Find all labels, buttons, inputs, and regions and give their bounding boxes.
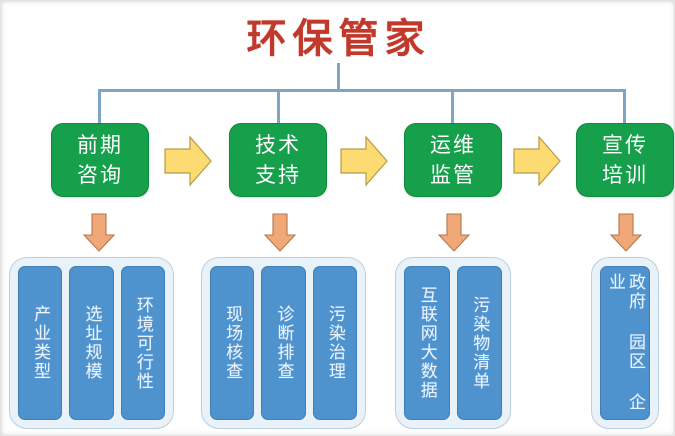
- stage-label-line1: 技术: [255, 130, 301, 160]
- stage-label-line2: 支持: [255, 160, 301, 190]
- capability-pill[interactable]: 互联网大数据: [404, 266, 450, 420]
- arrow-down-icon: [82, 213, 116, 253]
- capability-group-3: 互联网大数据 污染物清单: [395, 257, 511, 429]
- capability-pill[interactable]: 污染物清单: [457, 266, 503, 420]
- stage-label-line2: 咨询: [77, 160, 123, 190]
- connector-drop-3: [451, 91, 454, 123]
- capability-group-1: 产业类型 选址规模 环境可行性: [9, 257, 174, 429]
- stage-label-line1: 前期: [77, 130, 123, 160]
- capability-group-4: 政府 园区 企业: [591, 257, 659, 429]
- arrow-right-icon: [512, 135, 562, 187]
- stage-box-technical-support[interactable]: 技术 支持: [229, 123, 327, 197]
- capability-group-2: 现场核查 诊断排查 污染治理: [201, 257, 366, 429]
- capability-pill[interactable]: 诊断排查: [261, 266, 305, 420]
- arrow-right-icon: [163, 135, 213, 187]
- capability-pill[interactable]: 污染治理: [313, 266, 357, 420]
- stage-box-operation-supervision[interactable]: 运维 监管: [404, 123, 502, 197]
- capability-pill[interactable]: 现场核查: [210, 266, 254, 420]
- connector-horizontal-bar: [98, 89, 626, 92]
- stage-box-preliminary-consultation[interactable]: 前期 咨询: [51, 123, 149, 197]
- stage-label-line2: 监管: [430, 160, 476, 190]
- diagram-canvas: 环保管家 前期 咨询 技术 支持 运维 监管 宣传 培训: [0, 0, 675, 436]
- capability-pill[interactable]: 政府 园区 企业: [600, 266, 650, 420]
- arrow-right-icon: [339, 135, 389, 187]
- arrow-down-icon: [263, 213, 297, 253]
- capability-pill[interactable]: 选址规模: [69, 266, 113, 420]
- arrow-down-icon: [437, 213, 471, 253]
- connector-drop-2: [277, 91, 280, 123]
- capability-pill[interactable]: 环境可行性: [121, 266, 165, 420]
- stage-label-line1: 运维: [430, 130, 476, 160]
- page-title: 环保管家: [1, 17, 675, 61]
- stage-label-line2: 培训: [602, 160, 648, 190]
- arrow-down-icon: [609, 213, 643, 253]
- capability-pill[interactable]: 产业类型: [18, 266, 62, 420]
- connector-stem: [337, 63, 340, 91]
- connector-drop-4: [623, 91, 626, 123]
- connector-drop-1: [98, 91, 101, 123]
- stage-label-line1: 宣传: [602, 130, 648, 160]
- stage-box-publicity-training[interactable]: 宣传 培训: [576, 123, 674, 197]
